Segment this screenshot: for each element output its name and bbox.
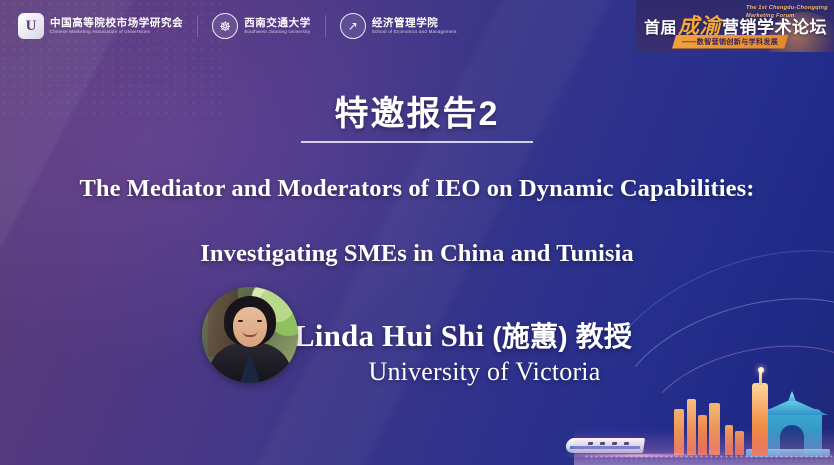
train-window-1	[588, 442, 593, 445]
banner-title-part3: 营销学术论坛	[722, 13, 827, 38]
train-stripe	[570, 446, 640, 449]
logo-school: ↗ 经济管理学院 School of Economics and Managem…	[340, 13, 457, 39]
train-motion-trail	[564, 454, 714, 457]
pavilion-finial	[788, 391, 796, 401]
ground-dot-pattern	[584, 454, 834, 461]
cmau-logo-icon: U	[18, 13, 44, 39]
slide-header: U 中国高等院校市场学研究会 Chinese Marketing Associa…	[0, 0, 834, 52]
pavilion-roof	[756, 399, 828, 415]
building-1	[674, 409, 684, 455]
portrait-face	[233, 307, 267, 347]
logo-school-text: 经济管理学院 School of Economics and Managemen…	[372, 17, 457, 34]
speaker-name-chinese: (施蕙) 教授	[492, 321, 632, 352]
logo-cmau-name-en: Chinese Marketing Association of Univers…	[50, 29, 183, 35]
speaker-name: Linda Hui Shi (施蕙) 教授	[294, 315, 632, 355]
pavilion-arch-icon	[762, 409, 822, 455]
logo-divider-2	[325, 15, 326, 37]
train-window-4	[624, 442, 629, 445]
train-window-2	[600, 442, 605, 445]
session-kicker-block: 特邀报告2	[0, 96, 834, 143]
building-6	[735, 431, 744, 455]
presentation-slide: U 中国高等院校市场学研究会 Chinese Marketing Associa…	[0, 0, 834, 465]
portrait-eye-left	[238, 320, 243, 322]
pavilion-archway	[780, 425, 804, 455]
logo-school-name-cn: 经济管理学院	[372, 17, 457, 29]
logo-swjtu-text: 西南交通大学 Southwest Jiaotong University	[244, 17, 311, 34]
logo-divider-1	[197, 15, 198, 37]
banner-title-part1: 首届	[644, 14, 677, 38]
portrait-eye-right	[257, 320, 262, 322]
logo-swjtu: ☸ 西南交通大学 Southwest Jiaotong University	[212, 13, 311, 39]
logo-cmau-name-cn: 中国高等院校市场学研究会	[50, 17, 183, 29]
logo-swjtu-name-cn: 西南交通大学	[244, 17, 311, 29]
high-speed-train-icon	[566, 433, 644, 453]
speaker-name-english: Linda Hui Shi	[294, 318, 492, 353]
banner-subtitle-ribbon: ——数智营销创新与学科发展	[672, 35, 788, 49]
building-3	[698, 415, 707, 455]
logo-cmau: U 中国高等院校市场学研究会 Chinese Marketing Associa…	[18, 13, 183, 39]
logo-swjtu-name-en: Southwest Jiaotong University	[244, 29, 311, 35]
building-4	[709, 403, 720, 455]
talk-title-line-1: The Mediator and Moderators of IEO on Dy…	[0, 175, 834, 203]
organizer-logo-group: U 中国高等院校市场学研究会 Chinese Marketing Associa…	[0, 13, 457, 39]
session-kicker-underline	[301, 141, 533, 143]
building-2	[687, 399, 696, 455]
talk-title-line-2: Investigating SMEs in China and Tunisia	[0, 240, 834, 268]
train-window-3	[612, 442, 617, 445]
session-kicker-label: 特邀报告2	[335, 96, 500, 133]
logo-cmau-text: 中国高等院校市场学研究会 Chinese Marketing Associati…	[50, 17, 183, 34]
train-body	[565, 438, 645, 453]
school-emblem-icon: ↗	[340, 13, 366, 39]
swjtu-seal-icon: ☸	[212, 13, 238, 39]
pavilion-plinth	[746, 449, 830, 457]
background-sheen	[0, 0, 834, 465]
skyline-glow	[574, 429, 834, 465]
logo-school-name-en: School of Economics and Management	[372, 29, 457, 35]
building-5	[725, 425, 733, 455]
forum-banner: The 1st Chengdu-Chongqing Marketing Foru…	[636, 0, 834, 52]
landmark-tower-icon	[752, 383, 768, 455]
speaker-affiliation: University of Victoria	[0, 357, 834, 387]
